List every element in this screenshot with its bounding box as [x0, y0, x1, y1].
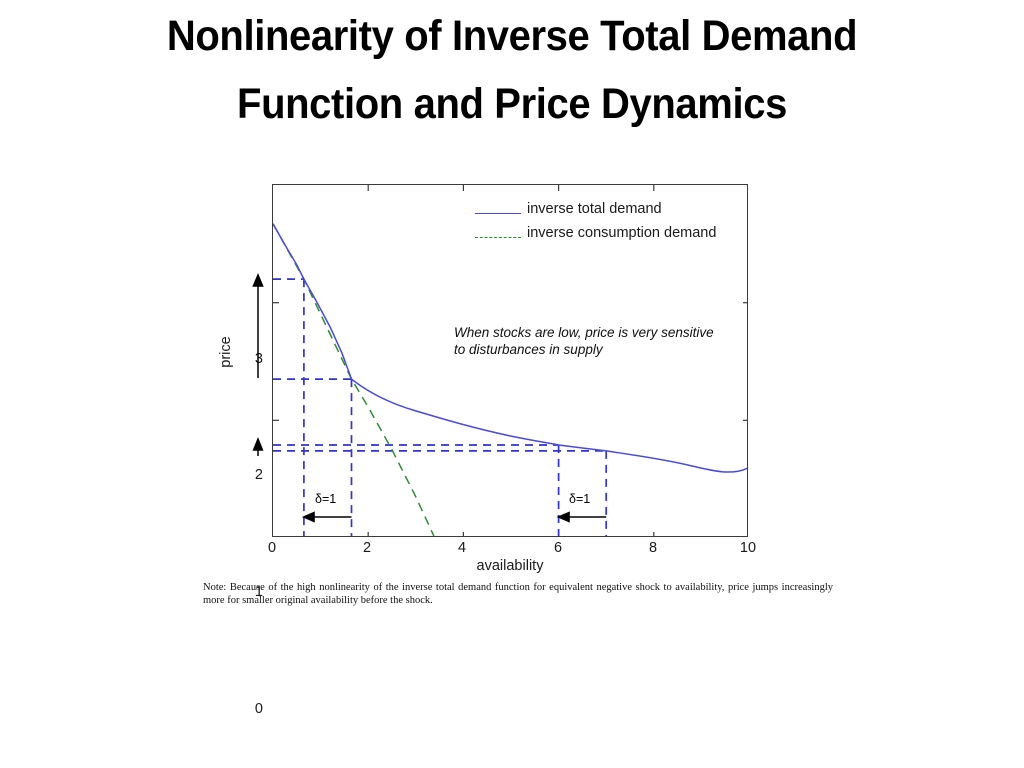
- delta-arrow-left: [304, 513, 352, 522]
- price-jump-arrow-large: [253, 275, 262, 378]
- legend-item-total-demand: inverse total demand: [475, 202, 743, 226]
- x-tick-4: 4: [447, 540, 477, 556]
- price-jump-arrow-group: [243, 184, 273, 537]
- x-tick-8: 8: [638, 540, 668, 556]
- legend: inverse total demand inverse consumption…: [475, 202, 743, 250]
- page-title-line-2: Function and Price Dynamics: [36, 70, 988, 138]
- footnote: Note: Because of the high nonlinearity o…: [203, 581, 833, 607]
- plot-area: inverse total demand inverse consumption…: [272, 184, 748, 537]
- legend-swatch-total-demand: [475, 213, 521, 214]
- delta-arrow-right: [559, 513, 607, 522]
- page-title-line-1: Nonlinearity of Inverse Total Demand: [167, 12, 857, 60]
- y-axis-label: price: [218, 322, 234, 382]
- x-axis-ticks: [368, 532, 654, 537]
- x-tick-10: 10: [733, 540, 763, 556]
- y-axis-ticks: [273, 303, 279, 421]
- legend-label-consumption-demand: inverse consumption demand: [527, 225, 716, 241]
- page-title: Nonlinearity of Inverse Total Demand Fun…: [36, 2, 988, 138]
- legend-item-consumption-demand: inverse consumption demand: [475, 226, 743, 250]
- delta-label-left: δ=1: [315, 492, 336, 506]
- legend-swatch-consumption-demand: [475, 237, 521, 238]
- chart-annotation: When stocks are low, price is very sensi…: [454, 324, 724, 358]
- price-jump-arrow-small: [254, 439, 263, 456]
- figure: 3 2 1 0 0 2 4 6 8 10 availability price: [203, 176, 833, 616]
- y-tick-0: 0: [237, 701, 263, 717]
- x-tick-2: 2: [352, 540, 382, 556]
- delta-label-right: δ=1: [569, 492, 590, 506]
- x-axis-label: availability: [203, 558, 817, 574]
- x-tick-6: 6: [543, 540, 573, 556]
- slide: Nonlinearity of Inverse Total Demand Fun…: [0, 0, 1024, 768]
- x-tick-0: 0: [257, 540, 287, 556]
- legend-label-total-demand: inverse total demand: [527, 201, 662, 217]
